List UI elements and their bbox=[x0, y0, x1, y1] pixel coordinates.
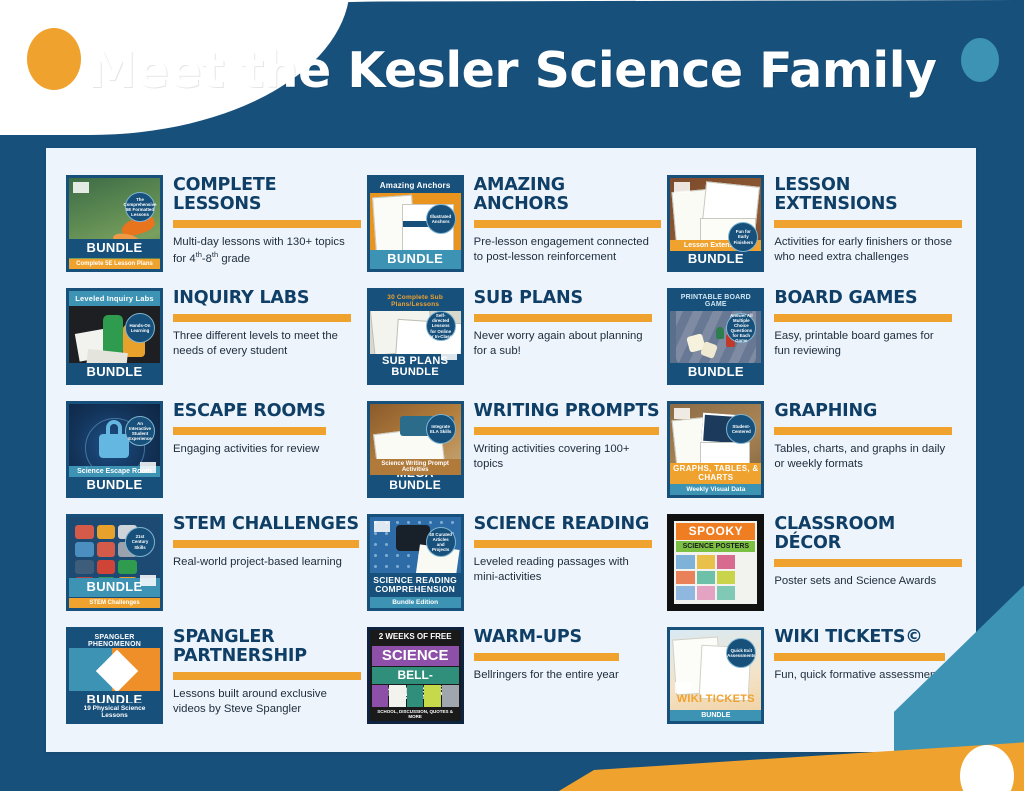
title-underline bbox=[474, 427, 660, 435]
item-description: Lessons built around exclusive videos by… bbox=[173, 687, 351, 718]
thumb-badge: Hands-On Learning bbox=[125, 313, 155, 343]
thumb-badge: Answer All Multiple Choice Questions for… bbox=[726, 313, 756, 343]
thumb-topbar: Amazing Anchors bbox=[370, 178, 461, 193]
thumb-subbar: STEM Challenges bbox=[69, 598, 160, 608]
brand-logo-icon bbox=[140, 462, 156, 473]
title-underline bbox=[774, 220, 962, 228]
item-description: Activities for early finishers or those … bbox=[774, 235, 952, 266]
item-title: INQUIRY LABS bbox=[173, 289, 351, 308]
brand-logo-icon bbox=[374, 521, 390, 532]
item-description: Bellringers for the entire year bbox=[474, 668, 619, 684]
thumb-badge: Self-directed Lessons for Online or In-C… bbox=[426, 311, 456, 341]
thumbnail-graphing[interactable]: Student-Centered Weekly Visual Data GRAP… bbox=[667, 401, 764, 498]
thumb-caption: BUNDLE bbox=[370, 250, 461, 269]
item-description: Poster sets and Science Awards bbox=[774, 574, 952, 590]
page-title: Meet the Kesler Science Family bbox=[0, 42, 1024, 99]
thumb-badge: 21st Century Skills bbox=[125, 527, 155, 557]
product-item-inquiry-labs[interactable]: Leveled Inquiry Labs Hands-On Learning B… bbox=[66, 283, 361, 396]
thumb-subbar: BUNDLE bbox=[670, 710, 761, 721]
title-underline bbox=[474, 653, 619, 661]
thumbnail-inquiry-labs[interactable]: Leveled Inquiry Labs Hands-On Learning B… bbox=[66, 288, 163, 385]
product-item-writing-prompts[interactable]: Integrate ELA Skills Science Writing Pro… bbox=[367, 396, 662, 509]
thumb-artwork: SPOOKY SCIENCE POSTERS bbox=[670, 517, 761, 608]
thumb-subbar: Weekly Visual Data bbox=[670, 484, 761, 495]
product-item-stem-challenges[interactable]: 21st Century Skills STEM Challenges BUND… bbox=[66, 509, 361, 622]
thumbnail-escape-rooms[interactable]: An Interactive Student Experience Scienc… bbox=[66, 401, 163, 498]
product-item-spangler-partnership[interactable]: SPANGLER PHENOMENON 19 Physical Science … bbox=[66, 622, 361, 735]
item-description: Engaging activities for review bbox=[173, 442, 326, 458]
thumbnail-amazing-anchors[interactable]: Amazing Anchors Illustrated Anchors BUND… bbox=[367, 175, 464, 272]
product-item-escape-rooms[interactable]: An Interactive Student Experience Scienc… bbox=[66, 396, 361, 509]
item-title: BOARD GAMES bbox=[774, 289, 952, 308]
thumb-subbar: 19 Physical Science Lessons bbox=[69, 703, 160, 721]
item-title: SUB PLANS bbox=[474, 289, 652, 308]
thumbnail-warm-ups[interactable]: 2 WEEKS OF FREE SCIENCE BELL-RINGERS FUL… bbox=[367, 627, 464, 724]
thumb-topbar: 2 WEEKS OF FREE bbox=[372, 632, 459, 646]
title-underline bbox=[173, 314, 351, 322]
item-description: Fun, quick formative assessments bbox=[774, 668, 945, 684]
thumb-topbar: Leveled Inquiry Labs bbox=[69, 291, 160, 306]
poster-title-text: SPOOKY bbox=[676, 523, 755, 540]
thumb-caption: BUNDLE bbox=[670, 363, 761, 382]
thumb-artwork: 2 WEEKS OF FREE SCIENCE BELL-RINGERS FUL… bbox=[370, 630, 461, 721]
thumbnail-classroom-decor[interactable]: SPOOKY SCIENCE POSTERS bbox=[667, 514, 764, 611]
item-title: ESCAPE ROOMS bbox=[173, 402, 326, 421]
item-title: WIKI TICKETS© bbox=[774, 628, 945, 647]
item-title: WRITING PROMPTS bbox=[474, 402, 660, 421]
product-item-sub-plans[interactable]: 30 Complete Sub Plans/Lessons Self-direc… bbox=[367, 283, 662, 396]
product-grid: The Comprehensive 5E Formatted Lessons C… bbox=[66, 170, 962, 735]
title-underline bbox=[774, 314, 952, 322]
item-title: WARM-UPS bbox=[474, 628, 619, 647]
thumb-caption: BUNDLE bbox=[69, 239, 160, 258]
item-description: Leveled reading passages with mini-activ… bbox=[474, 555, 652, 586]
item-title: STEM CHALLENGES bbox=[173, 515, 359, 534]
thumb-line2: BELL-RINGERS bbox=[372, 667, 459, 684]
item-description: Tables, charts, and graphs in daily or w… bbox=[774, 442, 952, 473]
thumb-caption: WIKI TICKETS bbox=[670, 692, 761, 709]
item-title: AMAZING ANCHORS bbox=[474, 176, 662, 214]
title-underline bbox=[774, 653, 945, 661]
title-underline bbox=[774, 559, 962, 567]
thumbnail-complete-lessons[interactable]: The Comprehensive 5E Formatted Lessons C… bbox=[66, 175, 163, 272]
product-item-science-reading[interactable]: 40 Curated Articles and Projects Bundle … bbox=[367, 509, 662, 622]
thumbnail-sub-plans[interactable]: 30 Complete Sub Plans/Lessons Self-direc… bbox=[367, 288, 464, 385]
item-description: Easy, printable board games for fun revi… bbox=[774, 329, 952, 360]
item-title: SCIENCE READING bbox=[474, 515, 652, 534]
thumb-badge: An Interactive Student Experience bbox=[125, 416, 155, 446]
poster-canvas: Meet the Kesler Science Family The Compr… bbox=[0, 0, 1024, 791]
title-underline bbox=[774, 427, 952, 435]
product-item-graphing[interactable]: Student-Centered Weekly Visual Data GRAP… bbox=[667, 396, 962, 509]
thumb-caption: SCIENCE READING COMPREHENSION bbox=[370, 573, 461, 597]
item-title: CLASSROOM DÉCOR bbox=[774, 515, 962, 553]
item-description: Writing activities covering 100+ topics bbox=[474, 442, 652, 473]
item-description: Never worry again about planning for a s… bbox=[474, 329, 652, 360]
product-item-board-games[interactable]: PRINTABLE BOARD GAME Answer All Multiple… bbox=[667, 283, 962, 396]
title-underline bbox=[474, 220, 662, 228]
thumb-badge: Integrate ELA Skills bbox=[426, 414, 456, 444]
item-description: Three different levels to meet the needs… bbox=[173, 329, 351, 360]
thumb-topbar: 30 Complete Sub Plans/Lessons bbox=[370, 291, 461, 311]
title-underline bbox=[173, 540, 359, 548]
title-underline bbox=[173, 672, 361, 680]
content-panel: The Comprehensive 5E Formatted Lessons C… bbox=[46, 148, 976, 752]
item-title: COMPLETE LESSONS bbox=[173, 176, 361, 214]
title-underline bbox=[173, 427, 326, 435]
brand-logo-icon bbox=[674, 182, 690, 193]
title-underline bbox=[474, 314, 652, 322]
brand-logo-icon bbox=[674, 408, 690, 419]
thumbnail-spangler-partnership[interactable]: SPANGLER PHENOMENON 19 Physical Science … bbox=[66, 627, 163, 724]
thumb-caption: BUNDLE bbox=[69, 363, 160, 382]
poster-subtitle-text: SCIENCE POSTERS bbox=[676, 541, 755, 552]
thumb-subbar: Complete 5E Lesson Plans bbox=[69, 259, 160, 269]
thumbnail-board-games[interactable]: PRINTABLE BOARD GAME Answer All Multiple… bbox=[667, 288, 764, 385]
item-description: Multi-day lessons with 130+ topics for 4… bbox=[173, 235, 351, 268]
brand-logo-icon bbox=[73, 182, 89, 193]
thumb-caption: BUNDLE bbox=[670, 250, 761, 269]
product-item-amazing-anchors[interactable]: Amazing Anchors Illustrated Anchors BUND… bbox=[367, 170, 662, 283]
item-title: LESSON EXTENSIONS bbox=[774, 176, 962, 214]
brand-logo-icon bbox=[140, 575, 156, 586]
thumb-badge: 40 Curated Articles and Projects bbox=[426, 527, 456, 557]
thumb-badge: Illustrated Anchors bbox=[426, 204, 456, 234]
product-item-warm-ups[interactable]: 2 WEEKS OF FREE SCIENCE BELL-RINGERS FUL… bbox=[367, 622, 662, 735]
brand-logo-icon bbox=[441, 349, 457, 360]
thumb-topbar: SPANGLER PHENOMENON bbox=[69, 630, 160, 652]
thumbnail-wiki-tickets[interactable]: Quick Exit Assessments BUNDLE WIKI TICKE… bbox=[667, 627, 764, 724]
item-title: GRAPHING bbox=[774, 402, 952, 421]
product-item-complete-lessons[interactable]: The Comprehensive 5E Formatted Lessons C… bbox=[66, 170, 361, 283]
thumb-line1: SCIENCE bbox=[372, 646, 459, 666]
thumb-subbar: SCHOOL, DISCUSSION, QUOTES & MORE bbox=[370, 707, 461, 721]
item-title: SPANGLER PARTNERSHIP bbox=[173, 628, 361, 666]
thumb-subbar: Bundle Edition bbox=[370, 597, 461, 608]
product-item-classroom-decor[interactable]: SPOOKY SCIENCE POSTERS CLASSROOM DÉCOR P… bbox=[667, 509, 962, 622]
thumbnail-lesson-extensions[interactable]: Fun for Early Finishers Lesson Extension… bbox=[667, 175, 764, 272]
item-description: Pre-lesson engagement connected to post-… bbox=[474, 235, 652, 266]
thumb-badge: The Comprehensive 5E Formatted Lessons bbox=[125, 192, 155, 222]
thumbnail-stem-challenges[interactable]: 21st Century Skills STEM Challenges BUND… bbox=[66, 514, 163, 611]
thumb-caption: GRAPHS, TABLES, & CHARTS bbox=[670, 463, 761, 484]
thumbnail-writing-prompts[interactable]: Integrate ELA Skills Science Writing Pro… bbox=[367, 401, 464, 498]
item-description: Real-world project-based learning bbox=[173, 555, 351, 571]
thumb-subbar: Science Writing Prompt Activities bbox=[370, 459, 461, 475]
thumb-caption: BUNDLE bbox=[69, 476, 160, 495]
thumb-topbar: PRINTABLE BOARD GAME bbox=[670, 291, 761, 311]
thumbnail-science-reading[interactable]: 40 Curated Articles and Projects Bundle … bbox=[367, 514, 464, 611]
title-underline bbox=[474, 540, 652, 548]
product-item-lesson-extensions[interactable]: Fun for Early Finishers Lesson Extension… bbox=[667, 170, 962, 283]
brand-logo-icon bbox=[675, 682, 691, 693]
title-underline bbox=[173, 220, 361, 228]
